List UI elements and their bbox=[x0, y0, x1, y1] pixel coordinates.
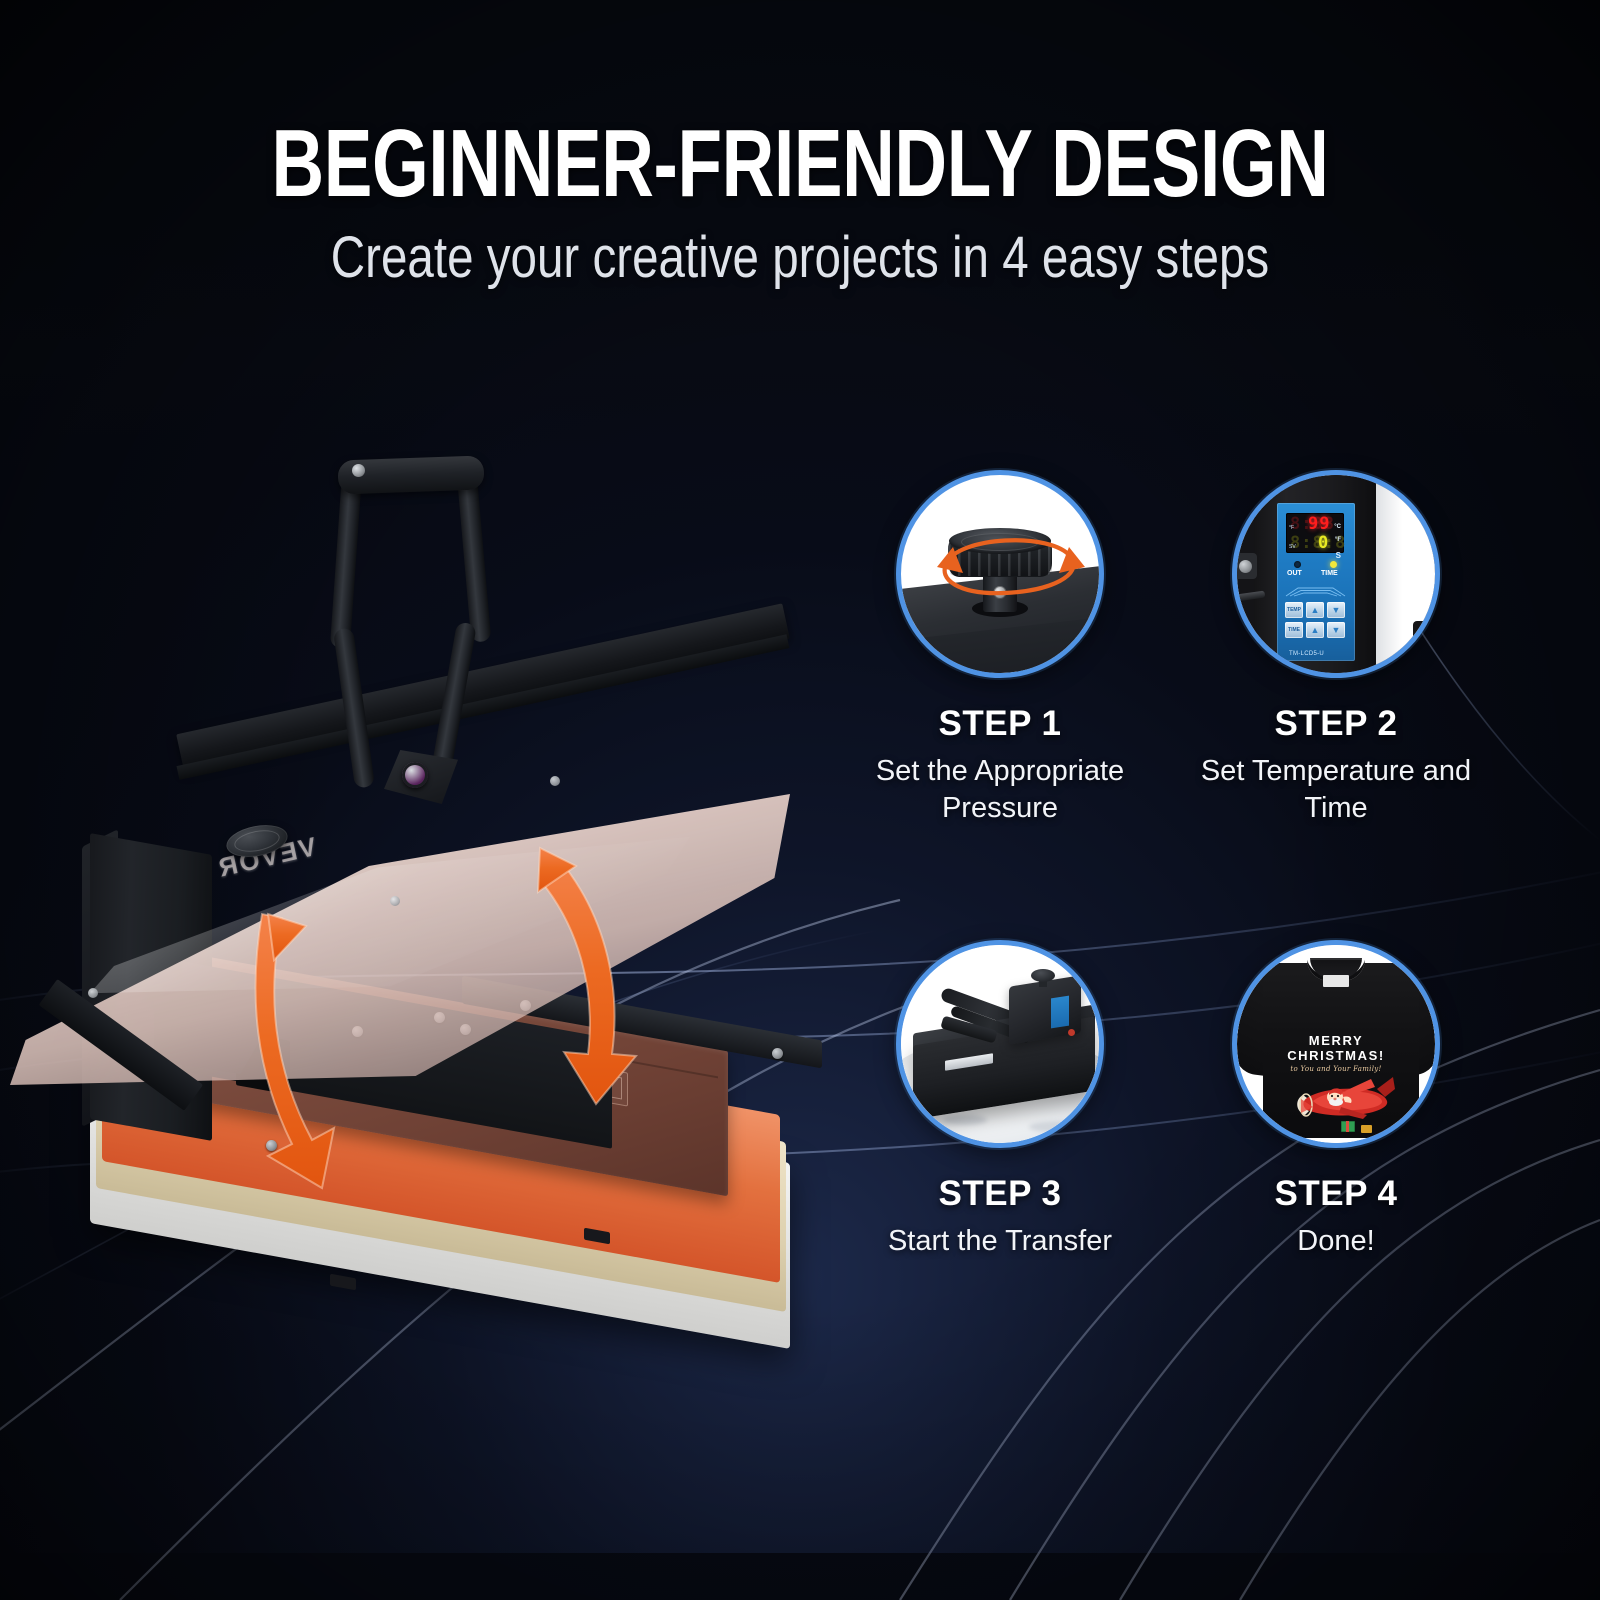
power-plug bbox=[1413, 621, 1429, 645]
time-button[interactable]: TIME bbox=[1285, 622, 1303, 638]
time-led-label: TIME bbox=[1321, 570, 1338, 577]
digital-control-panel[interactable]: 8:88 99 8:8:8 0 °C °F S °F SV bbox=[1277, 503, 1355, 661]
temp-down-button[interactable]: ▼ bbox=[1327, 602, 1345, 618]
celsius-indicator: °C bbox=[1334, 524, 1341, 530]
time-down-button[interactable]: ▼ bbox=[1327, 622, 1345, 638]
header: BEGINNER-FRIENDLY DESIGN Create your cre… bbox=[0, 118, 1600, 289]
sv-label: SV bbox=[1289, 544, 1296, 550]
step-3-label: STEP 3 bbox=[840, 1174, 1160, 1214]
press-power-button bbox=[1068, 1029, 1075, 1036]
panel-button-grid: TEMP ▲ ▼ TIME ▲ ▼ bbox=[1285, 602, 1347, 642]
temp-display-value: 99 bbox=[1308, 514, 1330, 534]
gift-box-green bbox=[1341, 1121, 1355, 1132]
closing-motion-arrows bbox=[30, 440, 850, 1380]
steps-grid: STEP 1 Set the Appropriate Pressure 8:88 bbox=[838, 470, 1528, 1370]
housing-hinge-bolt bbox=[1239, 560, 1252, 573]
step-2-label: STEP 2 bbox=[1176, 704, 1496, 744]
time-display-value: 0 bbox=[1318, 533, 1329, 553]
step-card-3: STEP 3 Start the Transfer bbox=[840, 940, 1160, 1260]
step-1-label: STEP 1 bbox=[840, 704, 1160, 744]
seconds-indicator: S bbox=[1336, 551, 1341, 560]
digital-display: 8:88 99 8:8:8 0 °C °F S °F SV bbox=[1286, 513, 1344, 553]
out-led bbox=[1294, 561, 1301, 568]
panel-wave-graphic bbox=[1284, 585, 1347, 598]
tshirt-print-line1: MERRY bbox=[1237, 1033, 1435, 1048]
step-card-1: STEP 1 Set the Appropriate Pressure bbox=[840, 470, 1160, 827]
santa-plane-icon bbox=[1289, 1071, 1399, 1123]
heat-press-product-image: CAUTION VEVOR bbox=[30, 440, 850, 1380]
chevron-up-icon: ▲ bbox=[1311, 606, 1320, 615]
infographic-stage: BEGINNER-FRIENDLY DESIGN Create your cre… bbox=[0, 0, 1600, 1600]
tshirt-print-line2: CHRISTMAS! bbox=[1237, 1048, 1435, 1063]
chevron-down-icon: ▼ bbox=[1332, 606, 1341, 615]
controller-model-label: TM-LCD5-U bbox=[1289, 651, 1324, 657]
page-subtitle: Create your creative projects in 4 easy … bbox=[144, 228, 1456, 289]
tshirt-neck-tag bbox=[1323, 975, 1349, 987]
press-head-display bbox=[1051, 996, 1069, 1029]
chevron-up-icon: ▲ bbox=[1311, 626, 1320, 635]
step-2-description: Set Temperature and Time bbox=[1176, 753, 1496, 827]
time-led bbox=[1330, 561, 1337, 568]
temp-up-button[interactable]: ▲ bbox=[1306, 602, 1324, 618]
pv-label: °F bbox=[1289, 525, 1294, 531]
step-4-image-circle: MERRY CHRISTMAS! to You and Your Family! bbox=[1232, 940, 1440, 1148]
step-card-4: MERRY CHRISTMAS! to You and Your Family! bbox=[1176, 940, 1496, 1260]
gift-box-gold bbox=[1361, 1125, 1372, 1133]
step-4-description: Done! bbox=[1176, 1223, 1496, 1260]
fahrenheit-indicator: °F bbox=[1335, 537, 1341, 543]
step-4-label: STEP 4 bbox=[1176, 1174, 1496, 1214]
rotation-arrow-icon bbox=[901, 475, 1099, 673]
out-led-label: OUT bbox=[1287, 570, 1302, 577]
temp-button[interactable]: TEMP bbox=[1285, 602, 1303, 618]
press-head-knob bbox=[1031, 969, 1055, 982]
page-title: BEGINNER-FRIENDLY DESIGN bbox=[192, 118, 1408, 210]
step-card-2: 8:88 99 8:8:8 0 °C °F S °F SV bbox=[1176, 470, 1496, 827]
step-3-description: Start the Transfer bbox=[840, 1223, 1160, 1260]
indicator-led-row: OUT TIME bbox=[1277, 561, 1355, 583]
time-up-button[interactable]: ▲ bbox=[1306, 622, 1324, 638]
step-2-image-circle: 8:88 99 8:8:8 0 °C °F S °F SV bbox=[1232, 470, 1440, 678]
step-3-image-circle bbox=[896, 940, 1104, 1148]
chevron-down-icon: ▼ bbox=[1332, 626, 1341, 635]
step-1-description: Set the Appropriate Pressure bbox=[840, 753, 1160, 827]
step-1-image-circle bbox=[896, 470, 1104, 678]
